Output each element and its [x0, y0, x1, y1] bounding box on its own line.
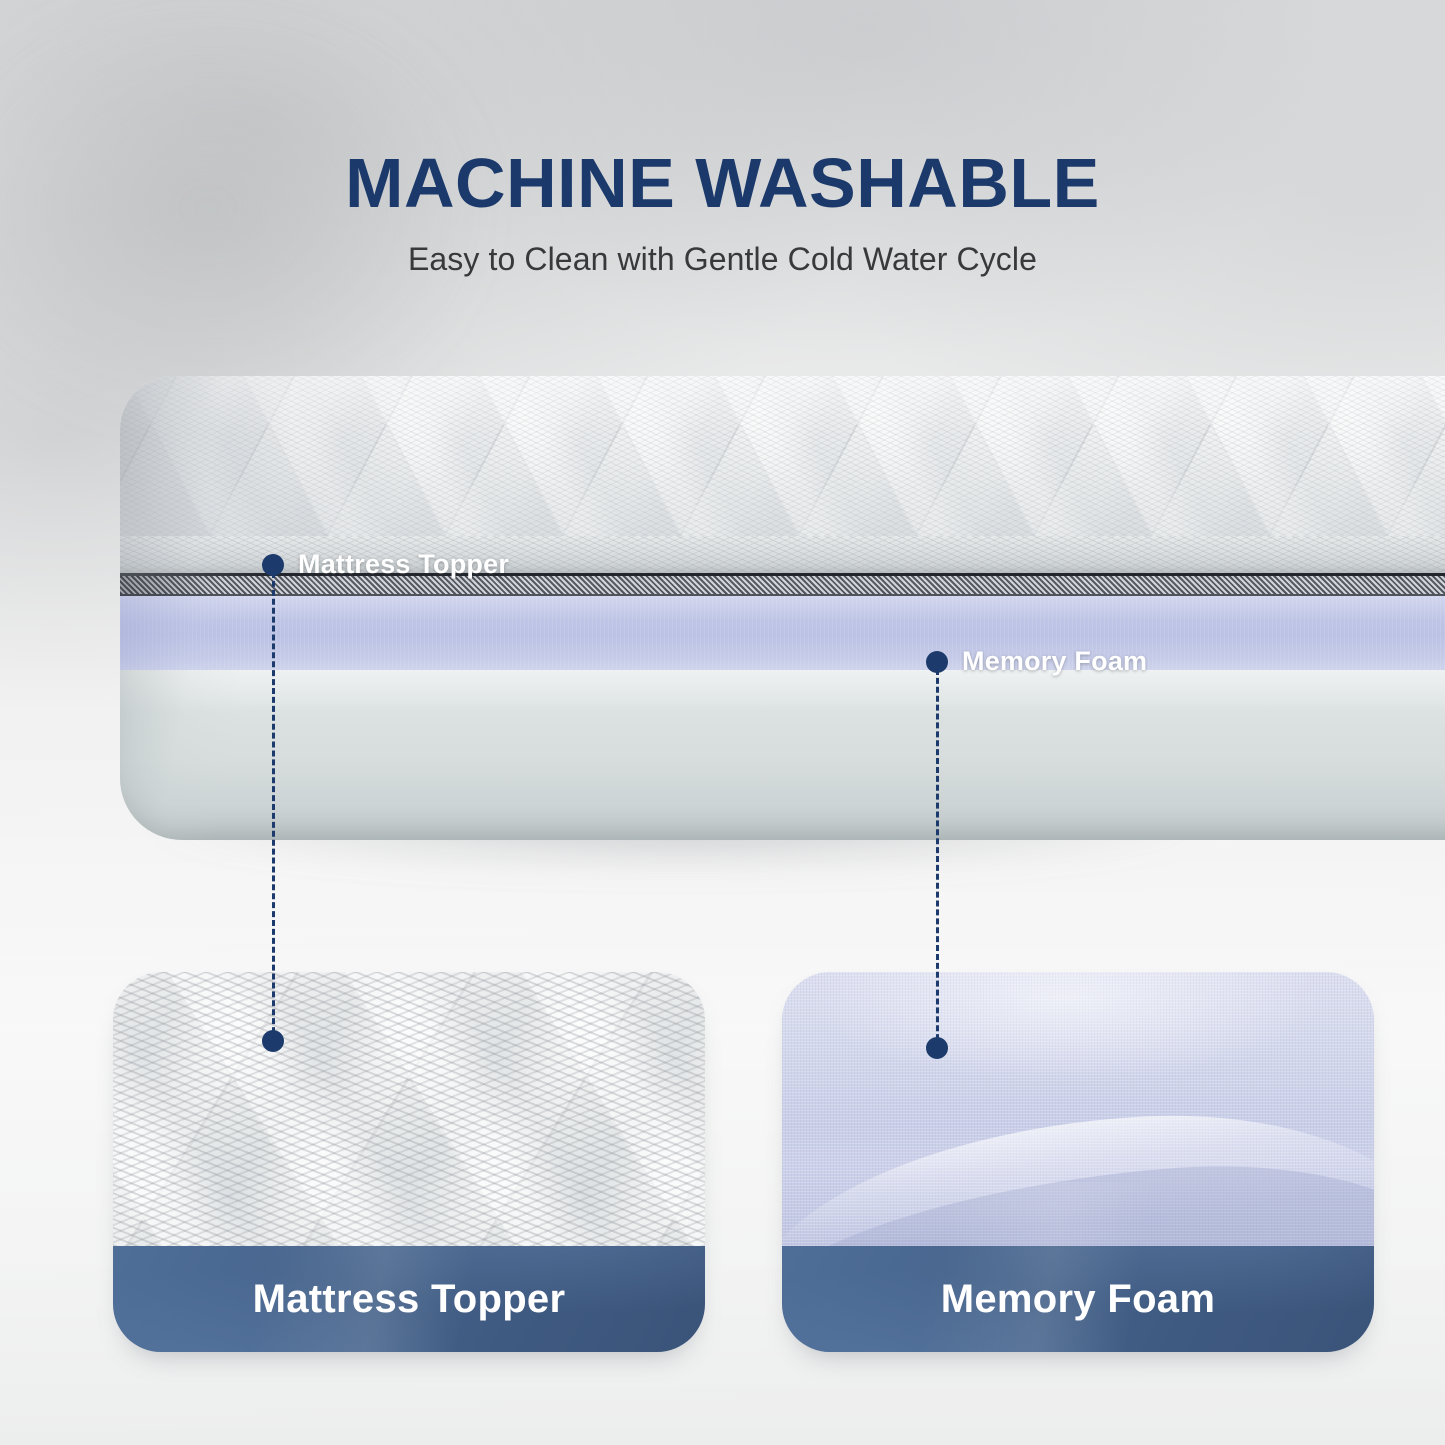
infographic-canvas: MACHINE WASHABLE Easy to Clean with Gent… — [0, 0, 1445, 1445]
leader-line-mattress-topper — [272, 572, 275, 1042]
topper-left-shading — [120, 376, 290, 576]
foam-closeup-highlight — [782, 972, 1374, 1104]
topper-front-edge-texture — [120, 536, 1445, 573]
detail-card-footer-memory-foam: Memory Foam — [782, 1246, 1374, 1352]
detail-card-mattress-topper: Mattress Topper — [113, 972, 705, 1352]
leader-line-memory-foam — [936, 669, 939, 1049]
detail-card-footer-mattress-topper: Mattress Topper — [113, 1246, 705, 1352]
page-subtitle: Easy to Clean with Gentle Cold Water Cyc… — [0, 241, 1445, 278]
marker-dot-icon-card-topper — [262, 1030, 284, 1052]
page-title: MACHINE WASHABLE — [0, 148, 1445, 219]
quilt-closeup-knit — [113, 972, 705, 1246]
mattress-memory-foam-layer — [120, 592, 1445, 670]
detail-photo-mattress-topper — [113, 972, 705, 1246]
header-block: MACHINE WASHABLE Easy to Clean with Gent… — [0, 148, 1445, 278]
mattress-foam-left-shading — [120, 592, 250, 670]
detail-card-label-mattress-topper: Mattress Topper — [253, 1277, 566, 1322]
marker-dot-icon-card-foam — [926, 1037, 948, 1059]
detail-photo-memory-foam — [782, 972, 1374, 1246]
mattress-base-left-shading — [120, 660, 240, 840]
detail-card-label-memory-foam: Memory Foam — [941, 1277, 1215, 1322]
detail-card-memory-foam: Memory Foam — [782, 972, 1374, 1352]
mattress-illustration — [112, 360, 1445, 900]
